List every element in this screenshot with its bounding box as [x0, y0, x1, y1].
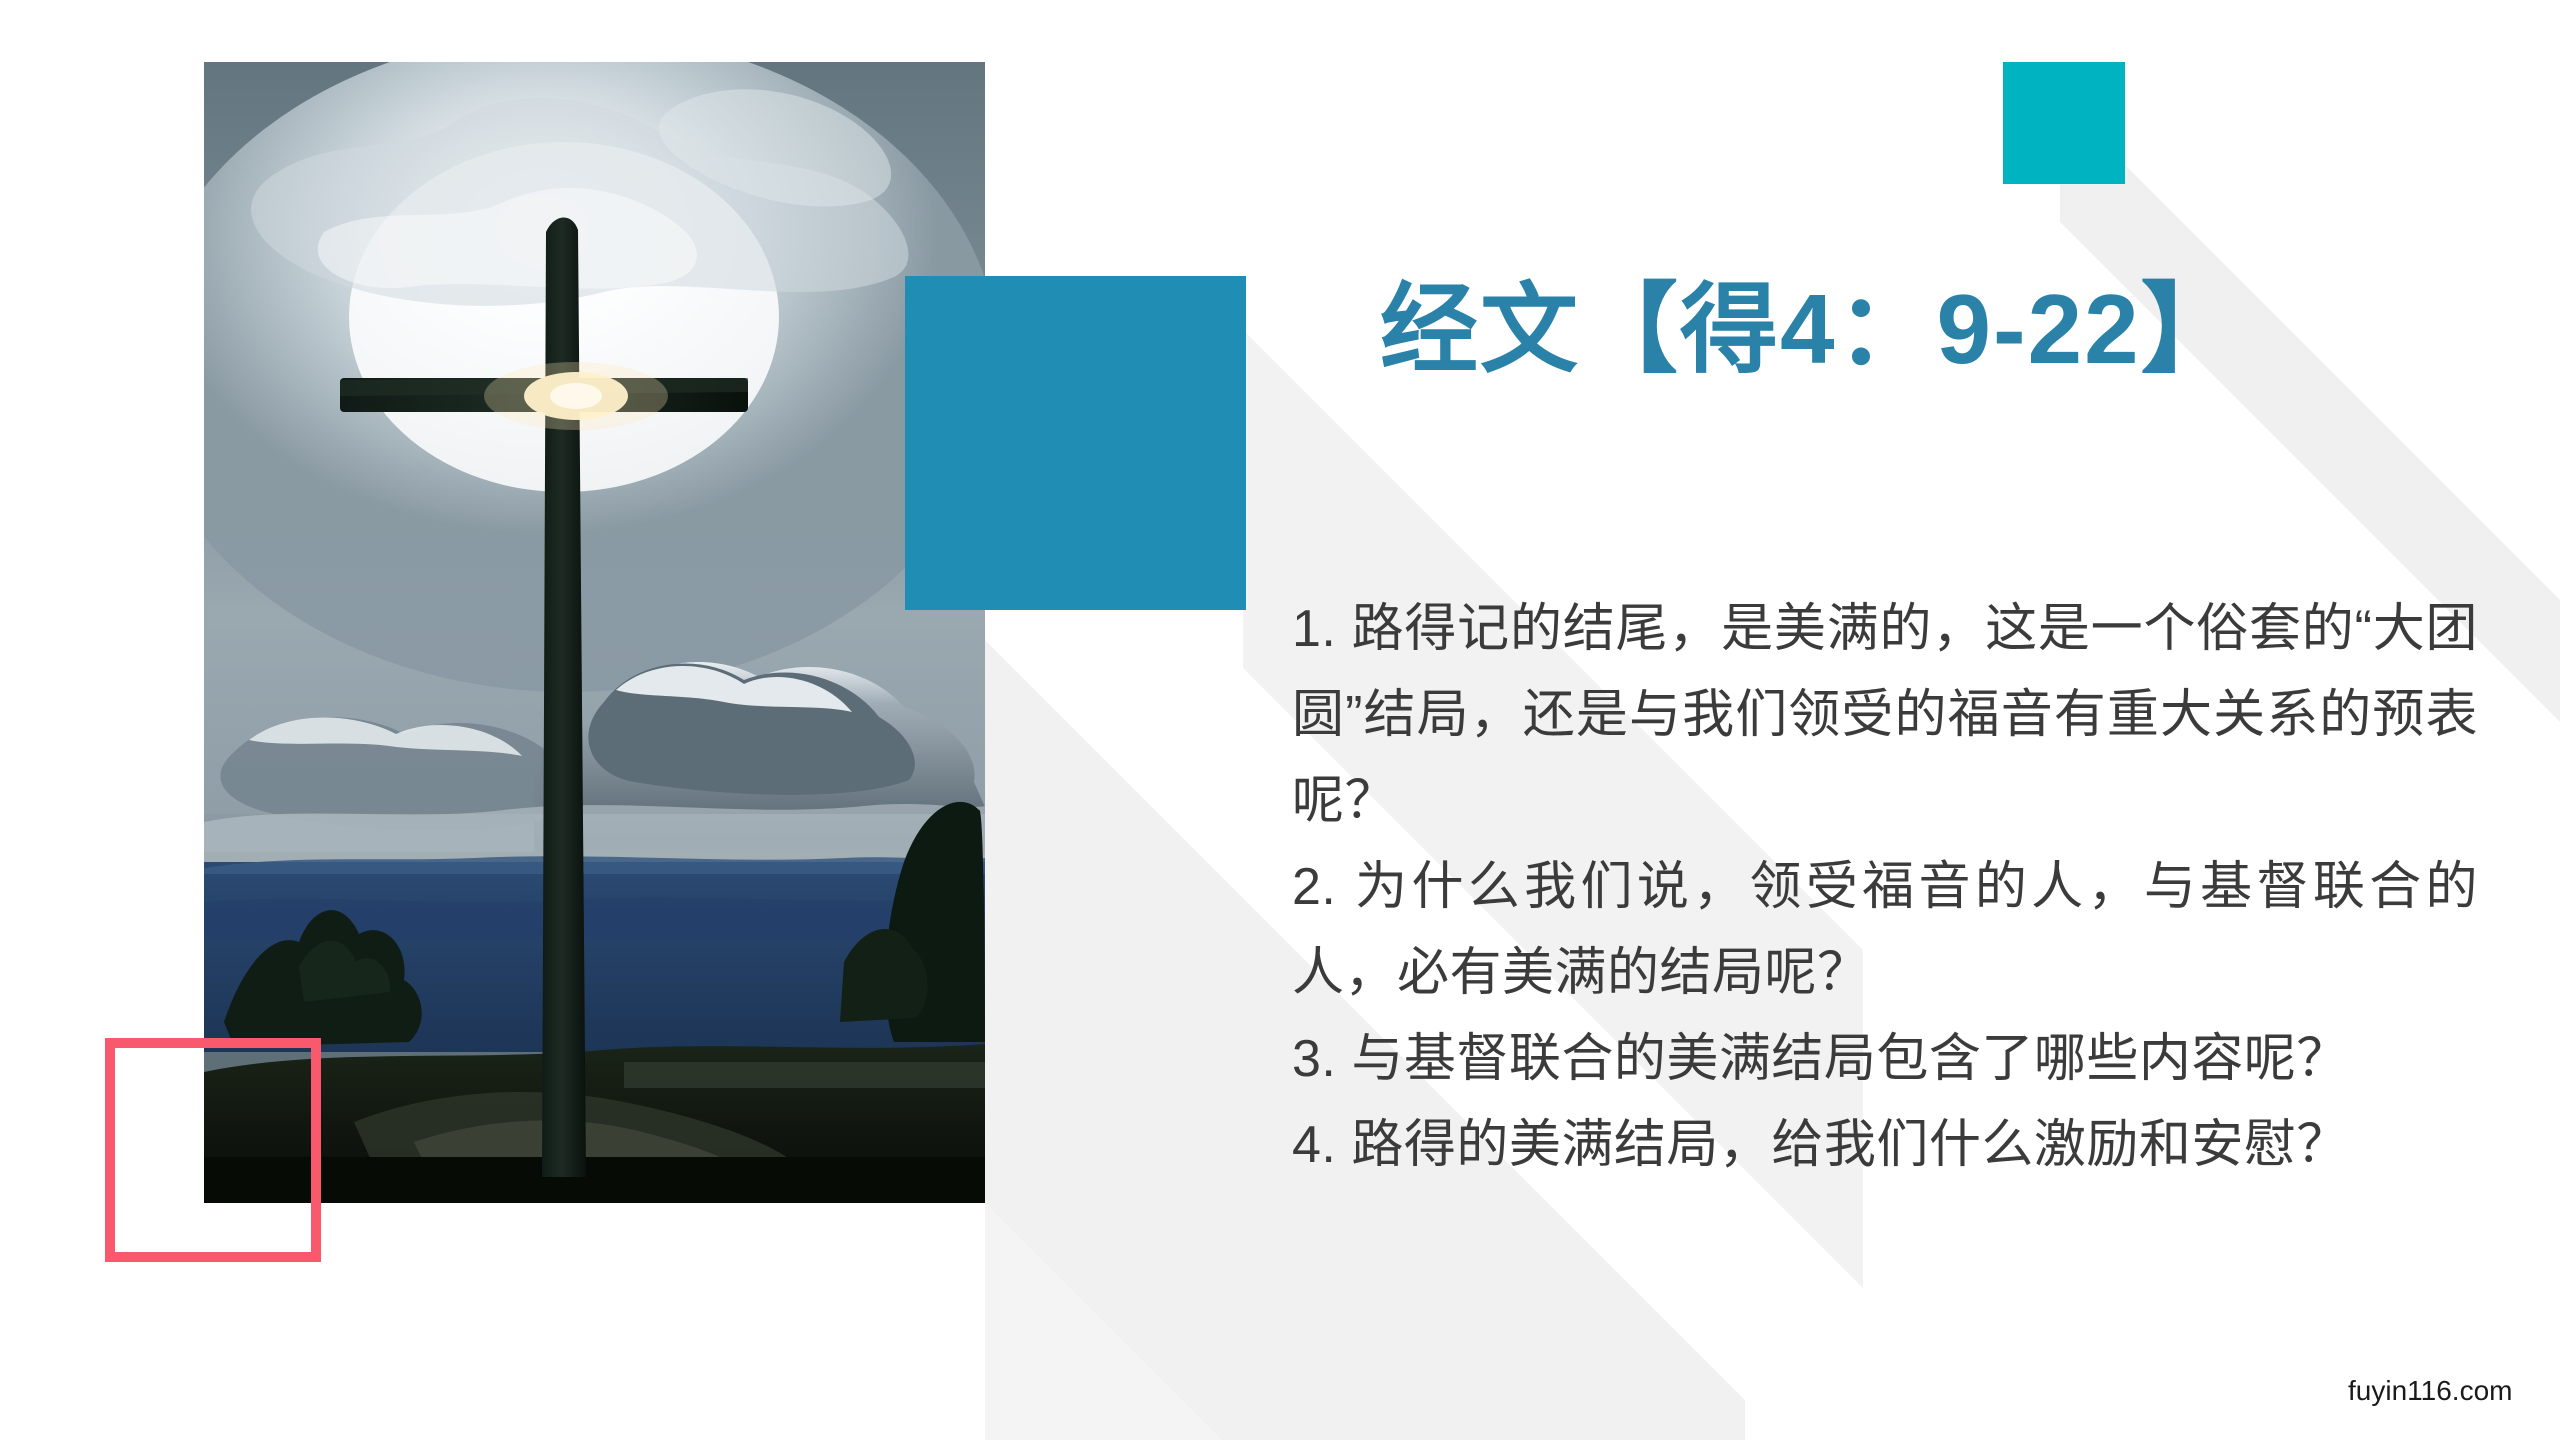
- question-list: 1. 路得记的结尾，是美满的，这是一个俗套的“大团圆”结局，还是与我们领受的福音…: [1292, 586, 2478, 1188]
- question-item-4: 4. 路得的美满结局，给我们什么激励和安慰？: [1292, 1102, 2478, 1188]
- teal-accent-square: [2003, 62, 2125, 184]
- cross-photo: [204, 62, 985, 1203]
- pink-outline-square: [105, 1038, 321, 1262]
- question-item-2: 2. 为什么我们说，领受福音的人，与基督联合的人，必有美满的结局呢？: [1292, 844, 2478, 1016]
- page-title: 经文【得4：9-22】: [1380, 278, 2380, 381]
- presentation-slide: 经文【得4：9-22】 1. 路得记的结尾，是美满的，这是一个俗套的“大团圆”结…: [0, 0, 2560, 1440]
- site-watermark: fuyin116.com: [2348, 1375, 2512, 1407]
- blue-accent-square: [905, 276, 1246, 610]
- photo-shadow-lower: [985, 1203, 1545, 1440]
- question-item-3: 3. 与基督联合的美满结局包含了哪些内容呢？: [1292, 1016, 2478, 1102]
- question-item-1: 1. 路得记的结尾，是美满的，这是一个俗套的“大团圆”结局，还是与我们领受的福音…: [1292, 586, 2478, 844]
